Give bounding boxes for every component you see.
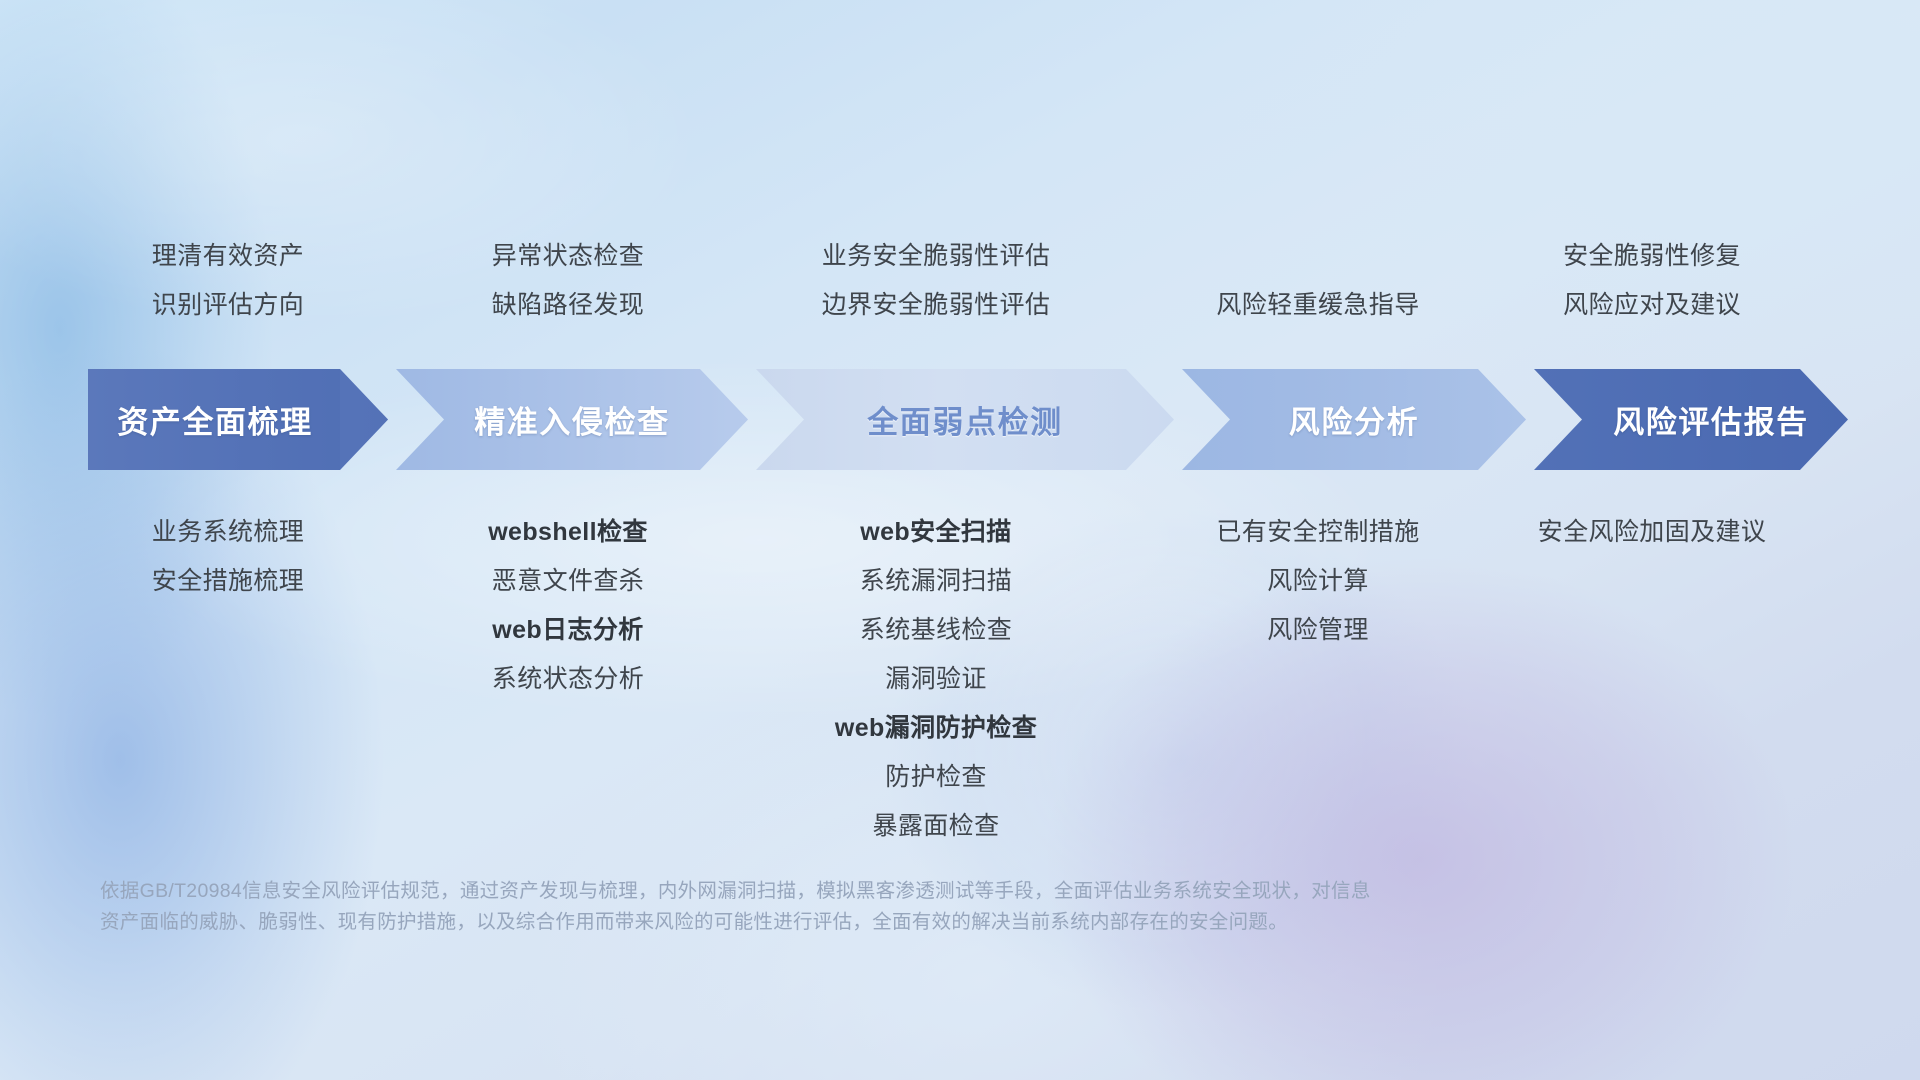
chevron-stage-risk-report[interactable]: 风险评估报告 [1534,369,1848,470]
footer-description: 依据GB/T20984信息安全风险评估规范，通过资产发现与梳理，内外网漏洞扫描，… [100,876,1740,938]
top-item: 安全脆弱性修复 [1392,232,1912,281]
top-item: 风险应对及建议 [1392,281,1912,330]
chevron-stage-intrusion-check[interactable]: 精准入侵检查 [396,369,748,470]
bottom-item: 暴露面检查 [676,802,1196,851]
stage-top-items-risk-report: 安全脆弱性修复 风险应对及建议 [1392,232,1912,330]
chevron-stage-weakness-detection[interactable]: 全面弱点检测 [756,369,1174,470]
bottom-item: 漏洞验证 [676,655,1196,704]
chevron-label: 风险评估报告 [1534,397,1848,442]
chevron-label: 资产全面梳理 [88,397,388,442]
footer-line-1: 依据GB/T20984信息安全风险评估规范，通过资产发现与梳理，内外网漏洞扫描，… [100,876,1740,907]
bottom-item: web漏洞防护检查 [676,704,1196,753]
process-diagram: 理清有效资产 识别评估方向 异常状态检查 缺陷路径发现 业务安全脆弱性评估 边界… [0,0,1920,1080]
stage-bottom-items-risk-report: 安全风险加固及建议 [1392,508,1912,557]
chevron-stage-risk-analysis[interactable]: 风险分析 [1182,369,1526,470]
bottom-item: 风险管理 [1058,606,1578,655]
chevron-label: 风险分析 [1182,397,1526,442]
bottom-item: 安全风险加固及建议 [1392,508,1912,557]
chevron-label: 全面弱点检测 [756,397,1174,442]
footer-line-2: 资产面临的威胁、脆弱性、现有防护措施，以及综合作用而带来风险的可能性进行评估，全… [100,907,1740,938]
bottom-item: 风险计算 [1058,557,1578,606]
stage-chevron-band: 资产全面梳理 精准入侵检查 [88,369,1848,470]
bottom-item: 防护检查 [676,753,1196,802]
chevron-stage-asset-inventory[interactable]: 资产全面梳理 [88,369,388,470]
chevron-label: 精准入侵检查 [396,397,748,442]
